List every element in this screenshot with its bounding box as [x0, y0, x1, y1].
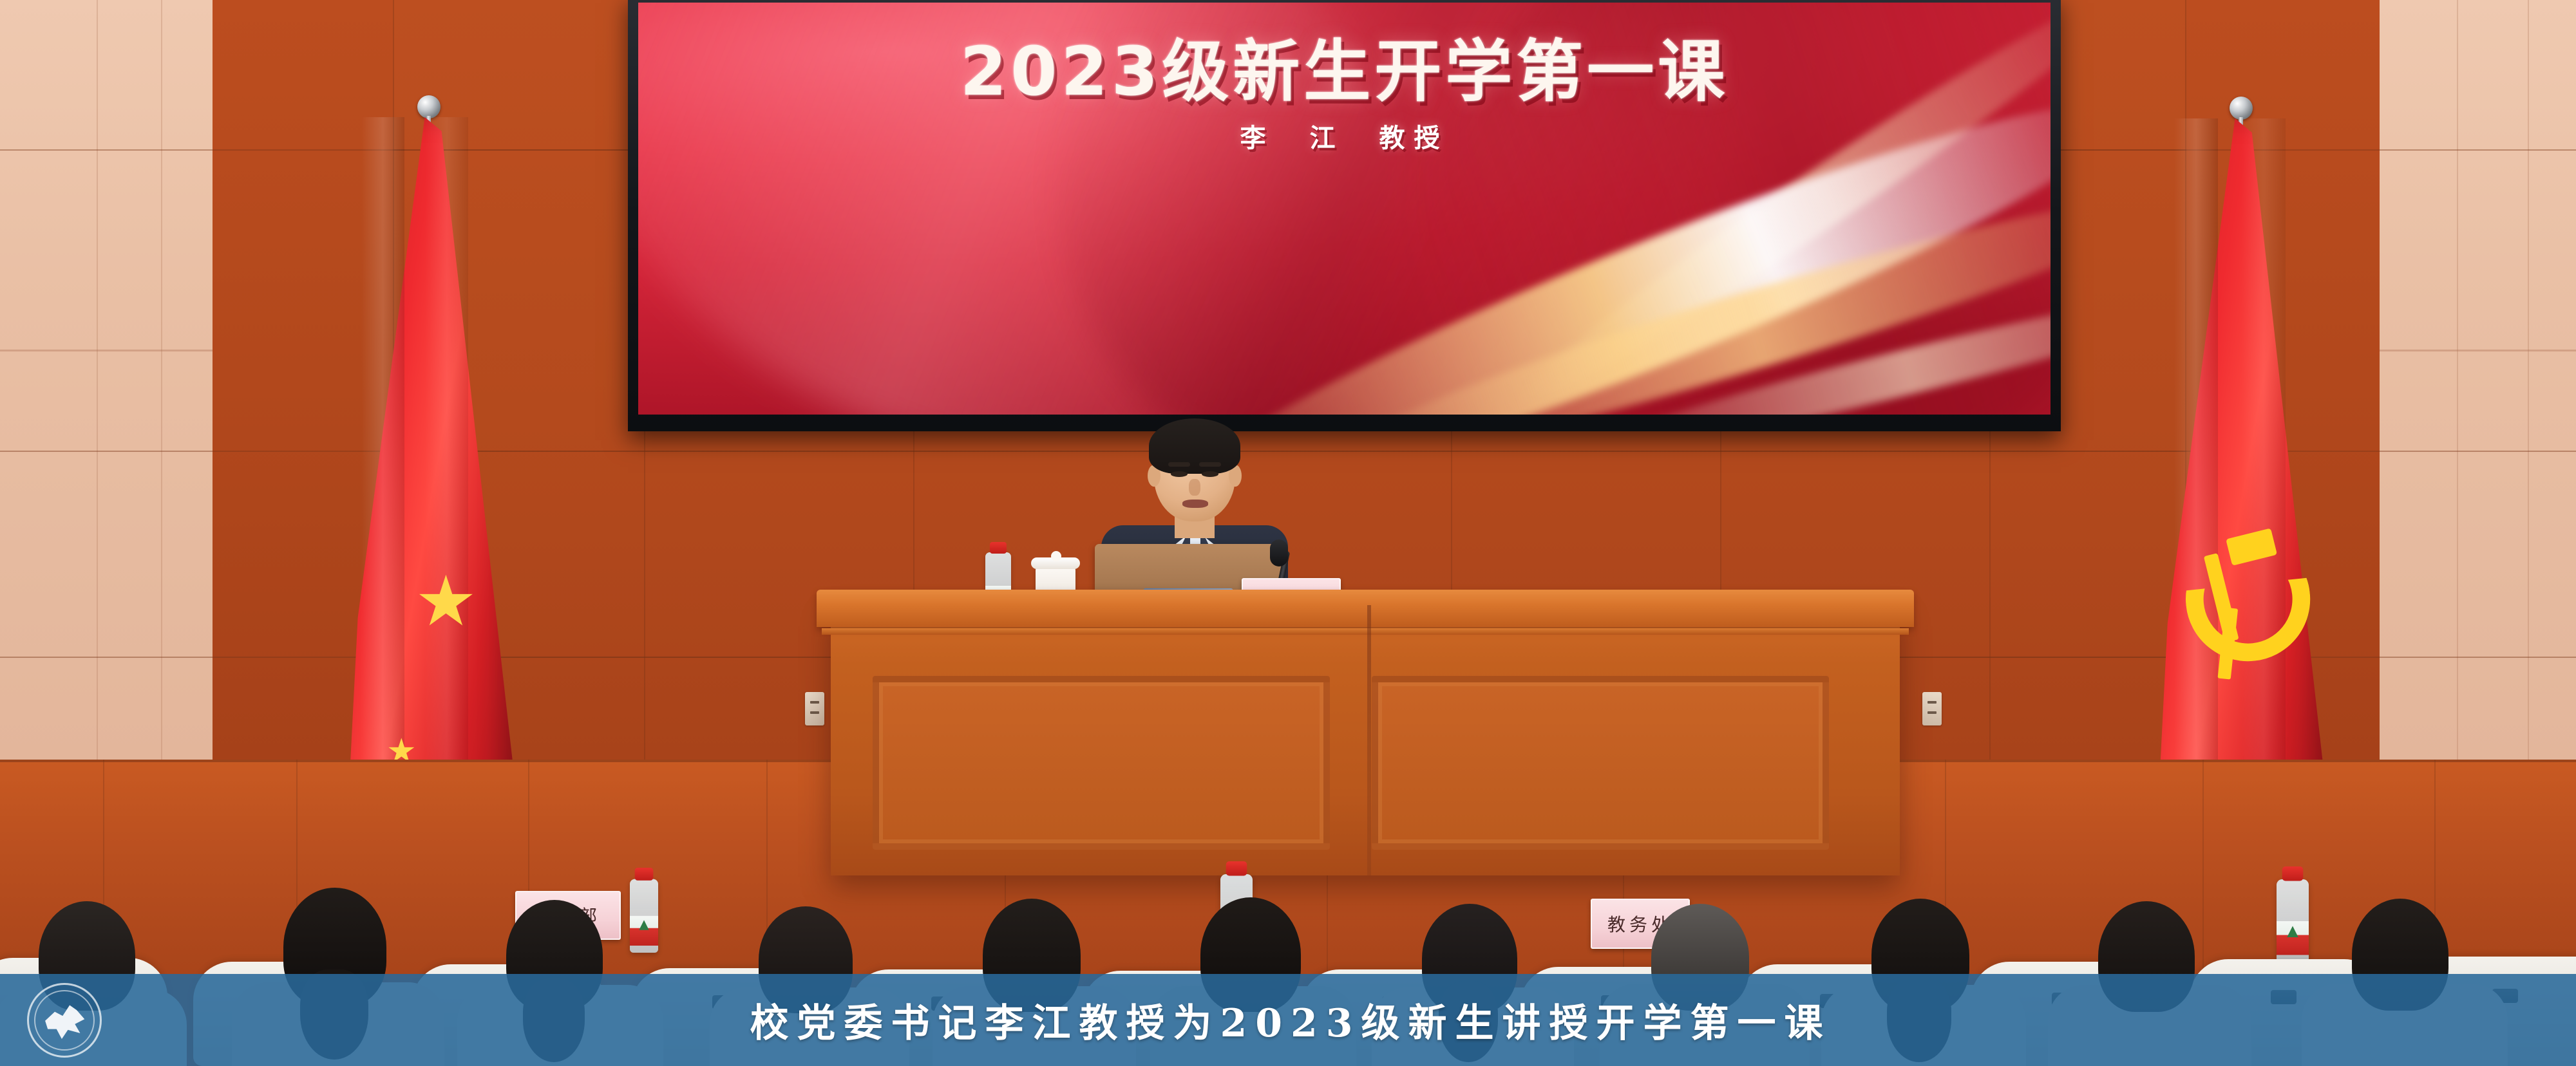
microphone-head — [1270, 539, 1288, 566]
speaker-eye — [1202, 471, 1218, 477]
caption-bar: 校党委书记李江教授为2023级新生讲授开学第一课 — [0, 974, 2576, 1066]
speaker-hair — [1149, 418, 1240, 474]
speaker-eye — [1171, 471, 1188, 477]
university-emblem-icon — [27, 983, 102, 1058]
photograph-scene: 2023级新生开学第一课 李 江 教授 ★ ★ ★ — [0, 0, 2576, 1066]
speaker-mouth — [1182, 500, 1208, 508]
led-subtitle-text: 李 江 教授 — [638, 117, 2050, 154]
wall-outlet — [805, 692, 824, 725]
speaker-eyebrow — [1199, 462, 1221, 467]
speaker-eyebrow — [1168, 462, 1190, 467]
caption-text: 校党委书记李江教授为2023级新生讲授开学第一课 — [102, 992, 2576, 1048]
flagpole-finial-right — [2230, 97, 2253, 120]
wall-outlet — [1922, 692, 1942, 725]
led-display-screen: 2023级新生开学第一课 李 江 教授 — [638, 3, 2050, 415]
water-bottle — [630, 879, 658, 953]
wall-panel-left — [0, 0, 213, 760]
wall-panel-right — [2380, 0, 2576, 760]
flagpole-finial-left — [417, 95, 440, 118]
led-display-frame: 2023级新生开学第一课 李 江 教授 — [628, 0, 2061, 431]
national-flag: ★ ★ ★ — [348, 117, 515, 812]
water-bottle — [2277, 879, 2309, 963]
party-flag — [2157, 118, 2326, 820]
speaker-nose — [1189, 479, 1200, 496]
led-title-text: 2023级新生开学第一课 — [638, 17, 2050, 114]
